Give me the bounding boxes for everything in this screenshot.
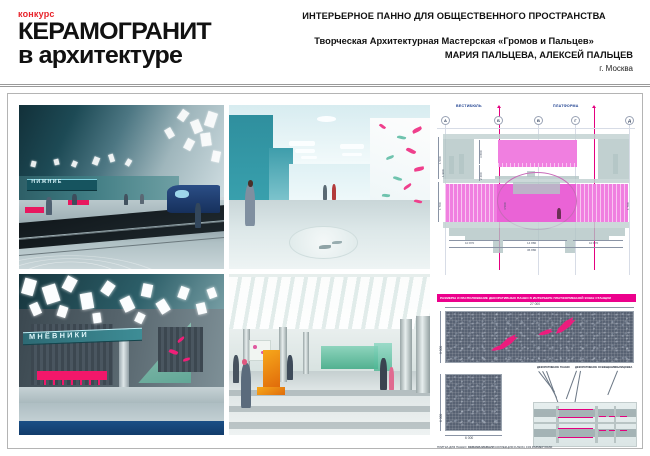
plan-panel-edge — [558, 428, 593, 429]
callout-leader — [575, 371, 581, 405]
plan-cross-wall — [614, 406, 616, 442]
plan-panel-edge — [558, 437, 593, 438]
poster-body: НИЖНИЕ — [7, 93, 643, 449]
mural-fish — [382, 193, 390, 197]
city-label: г. Москва — [275, 64, 633, 74]
plan-decor-marker — [620, 430, 627, 431]
platform-plan-drawing — [533, 402, 637, 447]
footnote-suffix: КОЛЛЕКЦИЯ FUSION, F03 РАЗМЕР 60х60 — [494, 445, 552, 449]
passenger-figure — [195, 203, 201, 228]
plan-panel-edge — [558, 409, 593, 410]
chandelier-shard — [92, 312, 102, 323]
section-caption-text: РАЗМЕРЫ И РАСПОЛОЖЕНИЕ ДЕКОРАТИВНЫХ ПАНН… — [437, 294, 636, 302]
passenger-figure — [380, 358, 387, 390]
ceiling-lamp — [342, 153, 362, 157]
dim-v4: 1 700 — [438, 202, 442, 210]
dim-v1: 1 500 — [438, 156, 442, 164]
plan-decor-marker — [620, 416, 627, 417]
dim-h4: 10 870 — [589, 241, 598, 245]
brand-line-2: в архитектуре — [18, 44, 273, 68]
dim-v2: 3 800 — [479, 150, 483, 158]
axis-bubble-v: В — [534, 116, 543, 125]
square-panel-height: 6 000 — [439, 414, 443, 422]
square-panel-width: 6 000 — [465, 436, 473, 440]
wide-panel-width: 27 000 — [530, 302, 540, 306]
hall-column — [416, 316, 430, 393]
callout-decor-lighting: ДЕКОРАТИВНОЕ ОСВЕЩЕНИЕ — [575, 366, 616, 369]
ceiling-lamp — [295, 149, 315, 153]
header-rule-top — [0, 84, 650, 85]
dim-h2: 14 880 — [527, 241, 536, 245]
competition-brand: конкурс КЕРАМОГРАНИТ в архитектуре — [18, 8, 268, 68]
callout-decor-panel: ДЕКОРАТИВНОЕ ПАННО — [537, 366, 570, 369]
square-panel-dim-line — [445, 435, 502, 436]
callout-leader — [547, 371, 560, 405]
footnote-prefix: ПЛИТКА ДЛЯ ПАННО: — [437, 445, 468, 449]
decorative-panel-square — [445, 374, 502, 431]
render-vestibule-hall — [229, 274, 430, 435]
plan-decor-marker — [599, 430, 606, 431]
orange-sculpture — [263, 350, 280, 389]
right-shaft — [613, 154, 618, 174]
left-shaft — [449, 156, 454, 174]
render-platform-train: НИЖНИЕ — [19, 105, 224, 269]
wide-panel-dim-line-v — [440, 311, 441, 363]
green-partition — [321, 346, 377, 369]
platform-bench — [68, 200, 89, 205]
project-title: ИНТЕРЬЕРНОЕ ПАННО ДЛЯ ОБЩЕСТВЕННОГО ПРОС… — [275, 10, 633, 22]
passenger-figure — [389, 367, 394, 390]
passenger-figure — [332, 184, 336, 200]
passenger-figure — [72, 194, 77, 205]
dim-v3: 2 400 — [479, 172, 483, 180]
ceiling-downlight — [317, 116, 335, 122]
tile-specification-footnote: ПЛИТКА ДЛЯ ПАННО: KERAMA MARAZZI КОЛЛЕКЦ… — [437, 445, 636, 449]
passenger-figure — [233, 355, 239, 384]
floor-medallion — [289, 226, 357, 259]
axis-bubble-a: А — [441, 116, 450, 125]
sculpture-base — [257, 387, 285, 395]
platform-panel-right — [576, 184, 628, 222]
axis-bubble-d: Д — [625, 116, 634, 125]
passenger-figure — [241, 363, 251, 408]
ceiling-lamp — [340, 144, 364, 148]
map-marker — [253, 345, 257, 349]
axis-bubble-g: Г — [571, 116, 580, 125]
ceiling-lamp — [289, 141, 315, 146]
hall-column — [303, 332, 309, 374]
dim-v5: 1 900 — [441, 169, 445, 177]
scale-human-figure — [557, 208, 561, 219]
plan-panel-edge — [558, 417, 593, 418]
vault-canopy — [513, 182, 560, 194]
left-wall-structure — [443, 139, 468, 179]
floor-stripe — [229, 422, 430, 428]
hall-column — [400, 319, 412, 390]
far-wall — [289, 164, 369, 200]
track-trough — [19, 421, 224, 435]
technical-drawings-column: ВЕСТИБЮЛЬ ПЛАТФОРМА А Б В Г Д — [435, 102, 637, 442]
passenger-figure — [46, 197, 52, 215]
callout-cladding: ОБЛИЦОВКА — [615, 366, 632, 369]
brand-line-1: КЕРАМОГРАНИТ — [18, 20, 273, 44]
section-caption-bar: РАЗМЕРЫ И РАСПОЛОЖЕНИЕ ДЕКОРАТИВНЫХ ПАНН… — [437, 294, 636, 302]
callout-leader — [608, 371, 618, 395]
wide-panel-dim-line — [445, 307, 634, 308]
upper-decor-panel — [498, 140, 577, 163]
station-section-drawing: 1 500 1 900 3 800 2 400 1 700 4 500 1 70… — [435, 132, 637, 277]
substructure — [449, 228, 625, 236]
passenger-figure — [245, 184, 255, 227]
footnote-brand: KERAMA MARAZZI — [468, 445, 494, 449]
right-rib — [598, 139, 606, 179]
header-rule-bottom — [0, 86, 650, 87]
decorative-panel-wide — [445, 311, 634, 363]
dim-v7: 1 700 — [626, 202, 630, 210]
plan-cross-wall — [595, 406, 598, 442]
platform-bench — [25, 207, 43, 214]
dim-v6: 4 500 — [503, 202, 507, 210]
upper-panel-module-strip — [498, 163, 577, 167]
render-corridor — [229, 105, 430, 269]
passenger-figure — [140, 194, 144, 204]
author-names: МАРИЯ ПАЛЬЦЕВА, АЛЕКСЕЙ ПАЛЬЦЕВ — [275, 49, 633, 61]
render-mnevniki-platform: МНЁВНИКИ — [19, 274, 224, 435]
poster-sheet: конкурс КЕРАМОГРАНИТ в архитектуре ИНТЕР… — [0, 0, 650, 456]
project-titles: ИНТЕРЬЕРНОЕ ПАННО ДЛЯ ОБЩЕСТВЕННОГО ПРОС… — [275, 10, 633, 74]
studio-name: Творческая Архитектурная Мастерская «Гро… — [275, 35, 633, 47]
panel-fish-motif — [553, 315, 577, 337]
chandelier-shard — [79, 292, 94, 310]
plan-decor-marker — [609, 430, 614, 431]
panel-fish-motif — [537, 328, 553, 337]
bench-legs — [37, 379, 107, 385]
plan-decor-marker — [599, 416, 606, 417]
dim-h3: 36 880 — [527, 248, 536, 252]
floor-stripe — [229, 406, 430, 412]
axis-bubble-b: Б — [494, 116, 503, 125]
passenger-figure — [287, 355, 293, 381]
station-name-text: НИЖНИЕ — [31, 179, 62, 185]
hall-column — [279, 327, 287, 382]
dim-h1: 10 870 — [465, 241, 474, 245]
left-shaft-2 — [459, 154, 464, 174]
wide-panel-height: 9 000 — [439, 346, 443, 354]
metro-train — [167, 185, 220, 213]
passenger-head — [248, 180, 253, 187]
poster-header: конкурс КЕРАМОГРАНИТ в архитектуре ИНТЕР… — [0, 0, 650, 88]
label-platform: ПЛАТФОРМА — [553, 104, 579, 108]
ceiling-lamp — [301, 156, 317, 159]
stone-cladding-panel — [158, 327, 203, 372]
plan-centre-wall — [534, 422, 636, 424]
floor-arc-pattern — [19, 226, 224, 269]
platform-panel-left — [445, 184, 497, 222]
grid-line-top — [437, 128, 635, 129]
label-vestibule: ВЕСТИБЮЛЬ — [456, 104, 482, 108]
square-panel-dim-line-v — [440, 374, 441, 431]
left-rib — [468, 139, 474, 179]
passenger-figure — [124, 194, 128, 205]
plan-decor-marker — [609, 416, 614, 417]
